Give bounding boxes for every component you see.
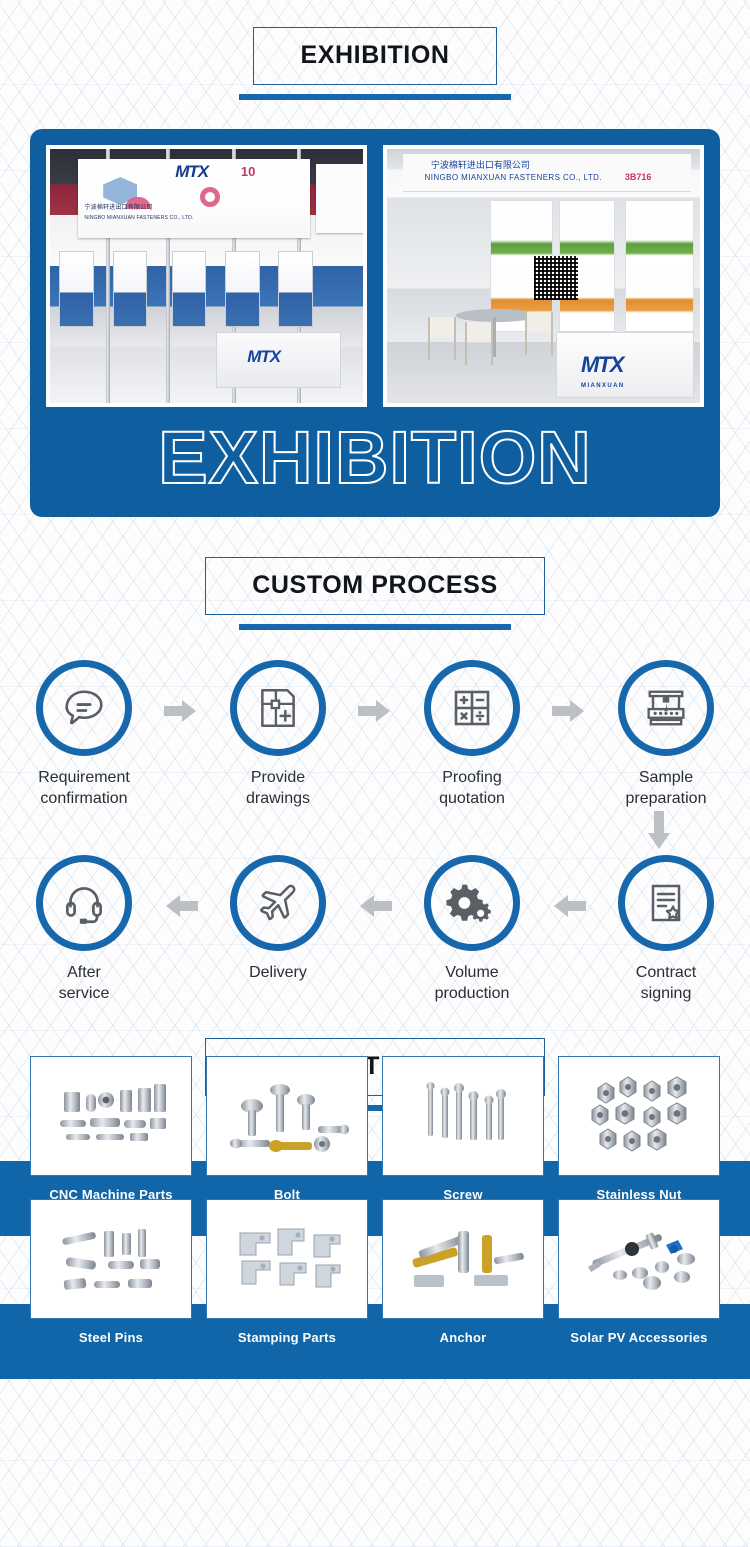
- process-step-requirement-confirmation[interactable]: Requirement confirmation: [10, 660, 158, 809]
- product-thumbnail: [558, 1056, 720, 1176]
- desk-logo-sub: MIANXUAN: [581, 383, 625, 389]
- step-label: Delivery: [204, 962, 352, 983]
- product-grid-row-2: Steel Pins: [30, 1199, 720, 1345]
- title-underline: [239, 94, 511, 100]
- product-label: Stamping Parts: [206, 1330, 368, 1345]
- product-card[interactable]: Steel Pins: [30, 1199, 192, 1345]
- airplane-icon: [253, 878, 303, 928]
- gears-icon: [446, 877, 498, 929]
- anchor-image: [398, 1209, 528, 1309]
- step-label: Provide drawings: [204, 767, 352, 809]
- product-card[interactable]: Anchor: [382, 1199, 544, 1345]
- step-circle: [618, 660, 714, 756]
- product-thumbnail: [382, 1056, 544, 1176]
- arrow-down-icon: [646, 811, 672, 851]
- step-label: Requirement confirmation: [10, 767, 158, 809]
- arrow-right-icon: [164, 698, 198, 724]
- product-thumbnail: [30, 1056, 192, 1176]
- solar-pv-accessories-image: [574, 1209, 704, 1309]
- calculator-icon: [448, 684, 496, 732]
- steel-pins-image: [46, 1209, 176, 1309]
- title-box: CUSTOM PROCESS: [205, 557, 544, 615]
- process-arrow: [158, 893, 204, 919]
- product-card[interactable]: Screw: [382, 1056, 544, 1202]
- product-label: Anchor: [382, 1330, 544, 1345]
- screw-image: [398, 1066, 528, 1166]
- process-step-delivery[interactable]: Delivery: [204, 855, 352, 983]
- product-thumbnail: [30, 1199, 192, 1319]
- booth-header-en: NINGBO MIANXUAN FASTENERS CO., LTD.: [425, 173, 602, 182]
- arrow-left-icon: [164, 893, 198, 919]
- step-circle: [230, 855, 326, 951]
- booth-banner-secondary: [316, 164, 363, 233]
- step-circle: [230, 660, 326, 756]
- step-circle: [618, 855, 714, 951]
- mtx-logo: MTX: [175, 162, 208, 182]
- process-arrow: [352, 893, 398, 919]
- product-thumbnail: [206, 1056, 368, 1176]
- page-title: EXHIBITION: [300, 43, 449, 68]
- process-step-provide-drawings[interactable]: Provide drawings: [204, 660, 352, 809]
- step-circle: [424, 855, 520, 951]
- blueprint-icon: [253, 683, 303, 733]
- step-label: Volume production: [398, 962, 546, 1004]
- headset-icon: [59, 878, 109, 928]
- product-label: Steel Pins: [30, 1330, 192, 1345]
- step-circle: [36, 855, 132, 951]
- process-arrow: [158, 698, 204, 724]
- process-connector: [0, 811, 750, 851]
- product-card[interactable]: Bolt: [206, 1056, 368, 1202]
- bolt-image: [222, 1066, 352, 1166]
- process-arrow: [546, 698, 592, 724]
- arrow-left-icon: [358, 893, 392, 919]
- product-card[interactable]: Stainless Nut: [558, 1056, 720, 1202]
- cnc-machine-icon: [640, 682, 692, 734]
- step-circle: [424, 660, 520, 756]
- product-card[interactable]: Stamping Parts: [206, 1199, 368, 1345]
- booth-banner-en: NINGBO MIANXUAN FASTENERS CO., LTD.: [84, 215, 193, 221]
- product-label: Solar PV Accessories: [558, 1330, 720, 1345]
- speech-bubble-icon: [58, 682, 110, 734]
- product-card[interactable]: Solar PV Accessories: [558, 1199, 720, 1345]
- exhibition-wordmark: EXHIBITION: [46, 417, 704, 505]
- desk-logo: MTX: [581, 352, 623, 378]
- custom-process-title: CUSTOM PROCESS: [252, 573, 497, 598]
- certificate-icon: [642, 879, 690, 927]
- cnc-machine-parts-image: [46, 1066, 176, 1166]
- product-thumbnail: [558, 1199, 720, 1319]
- product-thumbnail: [206, 1199, 368, 1319]
- product-grid-row-1: CNC Machine Parts: [30, 1056, 720, 1202]
- exhibition-photo-row: MTX 10 宁波棉轩进出口有限公司 NINGBO MIANXUAN FASTE…: [46, 145, 704, 407]
- process-step-proofing-quotation[interactable]: Proofing quotation: [398, 660, 546, 809]
- process-arrow: [546, 893, 592, 919]
- anniversary-badge: 10: [241, 164, 255, 179]
- title-box: EXHIBITION: [253, 27, 496, 85]
- qr-code: [534, 256, 578, 300]
- process-step-after-service[interactable]: After service: [10, 855, 158, 1004]
- process-step-volume-production[interactable]: Volume production: [398, 855, 546, 1004]
- product-thumbnail: [382, 1199, 544, 1319]
- arrow-left-icon: [552, 893, 586, 919]
- booth-banner-cn: 宁波棉轩进出口有限公司: [84, 202, 152, 211]
- step-label: Contract signing: [592, 962, 740, 1004]
- process-step-sample-preparation[interactable]: Sample preparation: [592, 660, 740, 809]
- booth-desk: [556, 332, 694, 398]
- exhibition-banner: MTX 10 宁波棉轩进出口有限公司 NINGBO MIANXUAN FASTE…: [30, 129, 720, 517]
- stainless-nut-image: [574, 1066, 704, 1166]
- process-flow: Requirement confirmation Provide drawing…: [0, 660, 750, 1004]
- booth-header-cn: 宁波棉轩进出口有限公司: [431, 158, 530, 171]
- process-row-1: Requirement confirmation Provide drawing…: [0, 660, 750, 809]
- process-step-contract-signing[interactable]: Contract signing: [592, 855, 740, 1004]
- booth-photo-wide: MTX 10 宁波棉轩进出口有限公司 NINGBO MIANXUAN FASTE…: [50, 149, 363, 403]
- process-arrow: [352, 698, 398, 724]
- counter-logo: MTX: [247, 347, 280, 367]
- booth-number: 3B716: [625, 172, 652, 182]
- product-card[interactable]: CNC Machine Parts: [30, 1056, 192, 1202]
- section-title-custom-process: CUSTOM PROCESS: [0, 557, 750, 630]
- exhibition-photo-2[interactable]: 宁波棉轩进出口有限公司 NINGBO MIANXUAN FASTENERS CO…: [383, 145, 704, 407]
- booth-photo-interior: 宁波棉轩进出口有限公司 NINGBO MIANXUAN FASTENERS CO…: [387, 149, 700, 403]
- step-circle: [36, 660, 132, 756]
- section-title-exhibition: EXHIBITION: [0, 0, 750, 100]
- arrow-right-icon: [358, 698, 392, 724]
- product-display: CNC Machine Parts: [0, 1161, 750, 1379]
- step-label: Sample preparation: [592, 767, 740, 809]
- product-band-2: Steel Pins: [0, 1304, 750, 1379]
- title-underline: [239, 624, 511, 630]
- process-row-2: After service Delivery: [0, 855, 750, 1004]
- arrow-right-icon: [552, 698, 586, 724]
- step-label: Proofing quotation: [398, 767, 546, 809]
- page-root: EXHIBITION MTX 10 宁波棉轩进出口有限公司: [0, 0, 750, 1379]
- exhibition-photo-1[interactable]: MTX 10 宁波棉轩进出口有限公司 NINGBO MIANXUAN FASTE…: [46, 145, 367, 407]
- step-label: After service: [10, 962, 158, 1004]
- stamping-parts-image: [222, 1209, 352, 1309]
